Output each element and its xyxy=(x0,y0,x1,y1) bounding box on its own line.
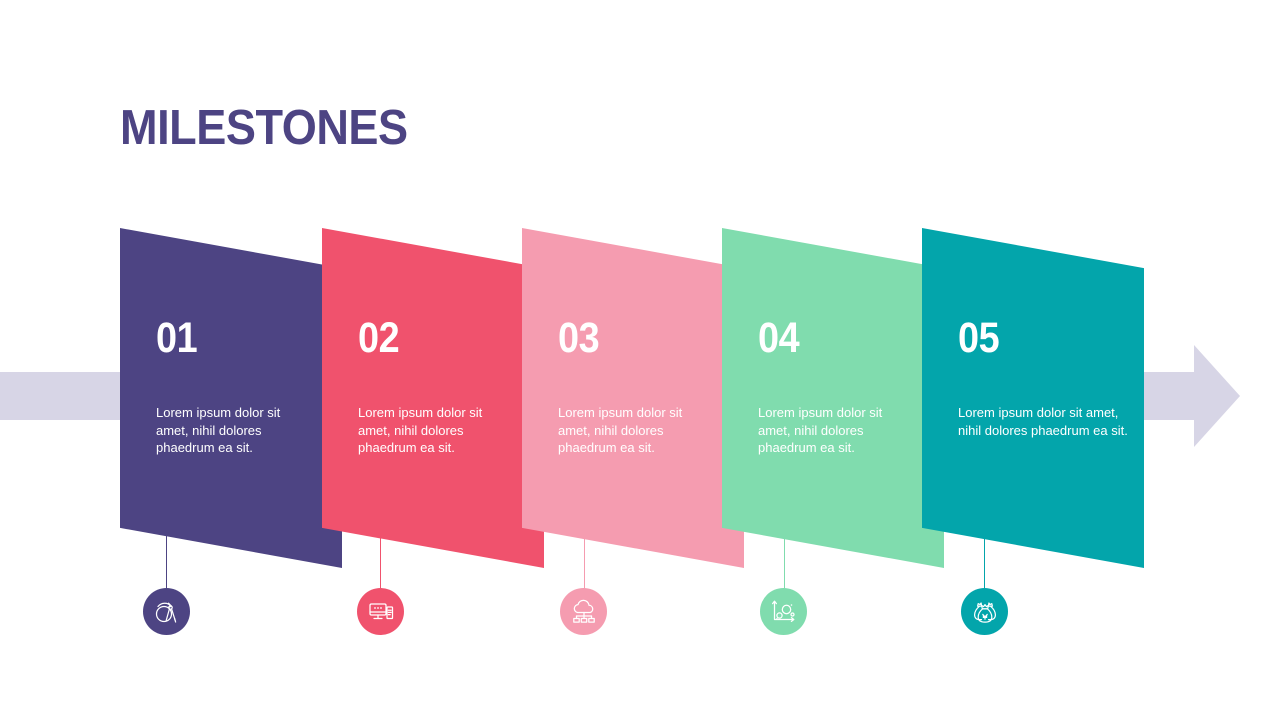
page-title: MILESTONES xyxy=(120,99,408,157)
bubble-chart-icon[interactable] xyxy=(760,588,807,635)
connector-line-2 xyxy=(380,532,381,592)
milestone-card-3[interactable]: 03 Lorem ipsum dolor sit amet, nihil dol… xyxy=(522,228,744,568)
milestone-card-1-body: Lorem ipsum dolor sit amet, nihil dolore… xyxy=(156,404,308,457)
compass-drafting-icon[interactable] xyxy=(143,588,190,635)
milestone-card-5-body: Lorem ipsum dolor sit amet, nihil dolore… xyxy=(958,404,1130,439)
milestone-card-4[interactable]: 04 Lorem ipsum dolor sit amet, nihil dol… xyxy=(722,228,944,568)
connector-line-4 xyxy=(784,532,785,592)
milestone-card-2-shape xyxy=(322,228,544,568)
connector-line-5 xyxy=(984,532,985,592)
milestone-card-1[interactable]: 01 Lorem ipsum dolor sit amet, nihil dol… xyxy=(120,228,342,568)
milestone-card-4-body: Lorem ipsum dolor sit amet, nihil dolore… xyxy=(758,404,910,457)
milestone-card-2-number: 02 xyxy=(358,316,399,360)
milestone-card-2-body: Lorem ipsum dolor sit amet, nihil dolore… xyxy=(358,404,510,457)
milestone-card-5-shape xyxy=(922,228,1144,568)
milestone-card-4-number: 04 xyxy=(758,316,799,360)
milestone-card-3-shape xyxy=(522,228,744,568)
slide-canvas: MILESTONES 01 Lorem ipsum dolor sit amet… xyxy=(0,0,1280,720)
progress-arrow-head xyxy=(1146,345,1240,447)
connector-line-1 xyxy=(166,532,167,592)
milestone-card-1-shape xyxy=(120,228,342,568)
milestone-card-3-number: 03 xyxy=(558,316,599,360)
money-bags-icon[interactable] xyxy=(961,588,1008,635)
milestone-card-5-number: 05 xyxy=(958,316,999,360)
monitor-document-icon[interactable] xyxy=(357,588,404,635)
connector-line-3 xyxy=(584,532,585,592)
milestone-card-5[interactable]: 05 Lorem ipsum dolor sit amet, nihil dol… xyxy=(922,228,1144,568)
milestone-card-1-number: 01 xyxy=(156,316,197,360)
milestone-card-3-body: Lorem ipsum dolor sit amet, nihil dolore… xyxy=(558,404,710,457)
milestone-card-2[interactable]: 02 Lorem ipsum dolor sit amet, nihil dol… xyxy=(322,228,544,568)
milestone-card-4-shape xyxy=(722,228,944,568)
cloud-network-icon[interactable] xyxy=(560,588,607,635)
